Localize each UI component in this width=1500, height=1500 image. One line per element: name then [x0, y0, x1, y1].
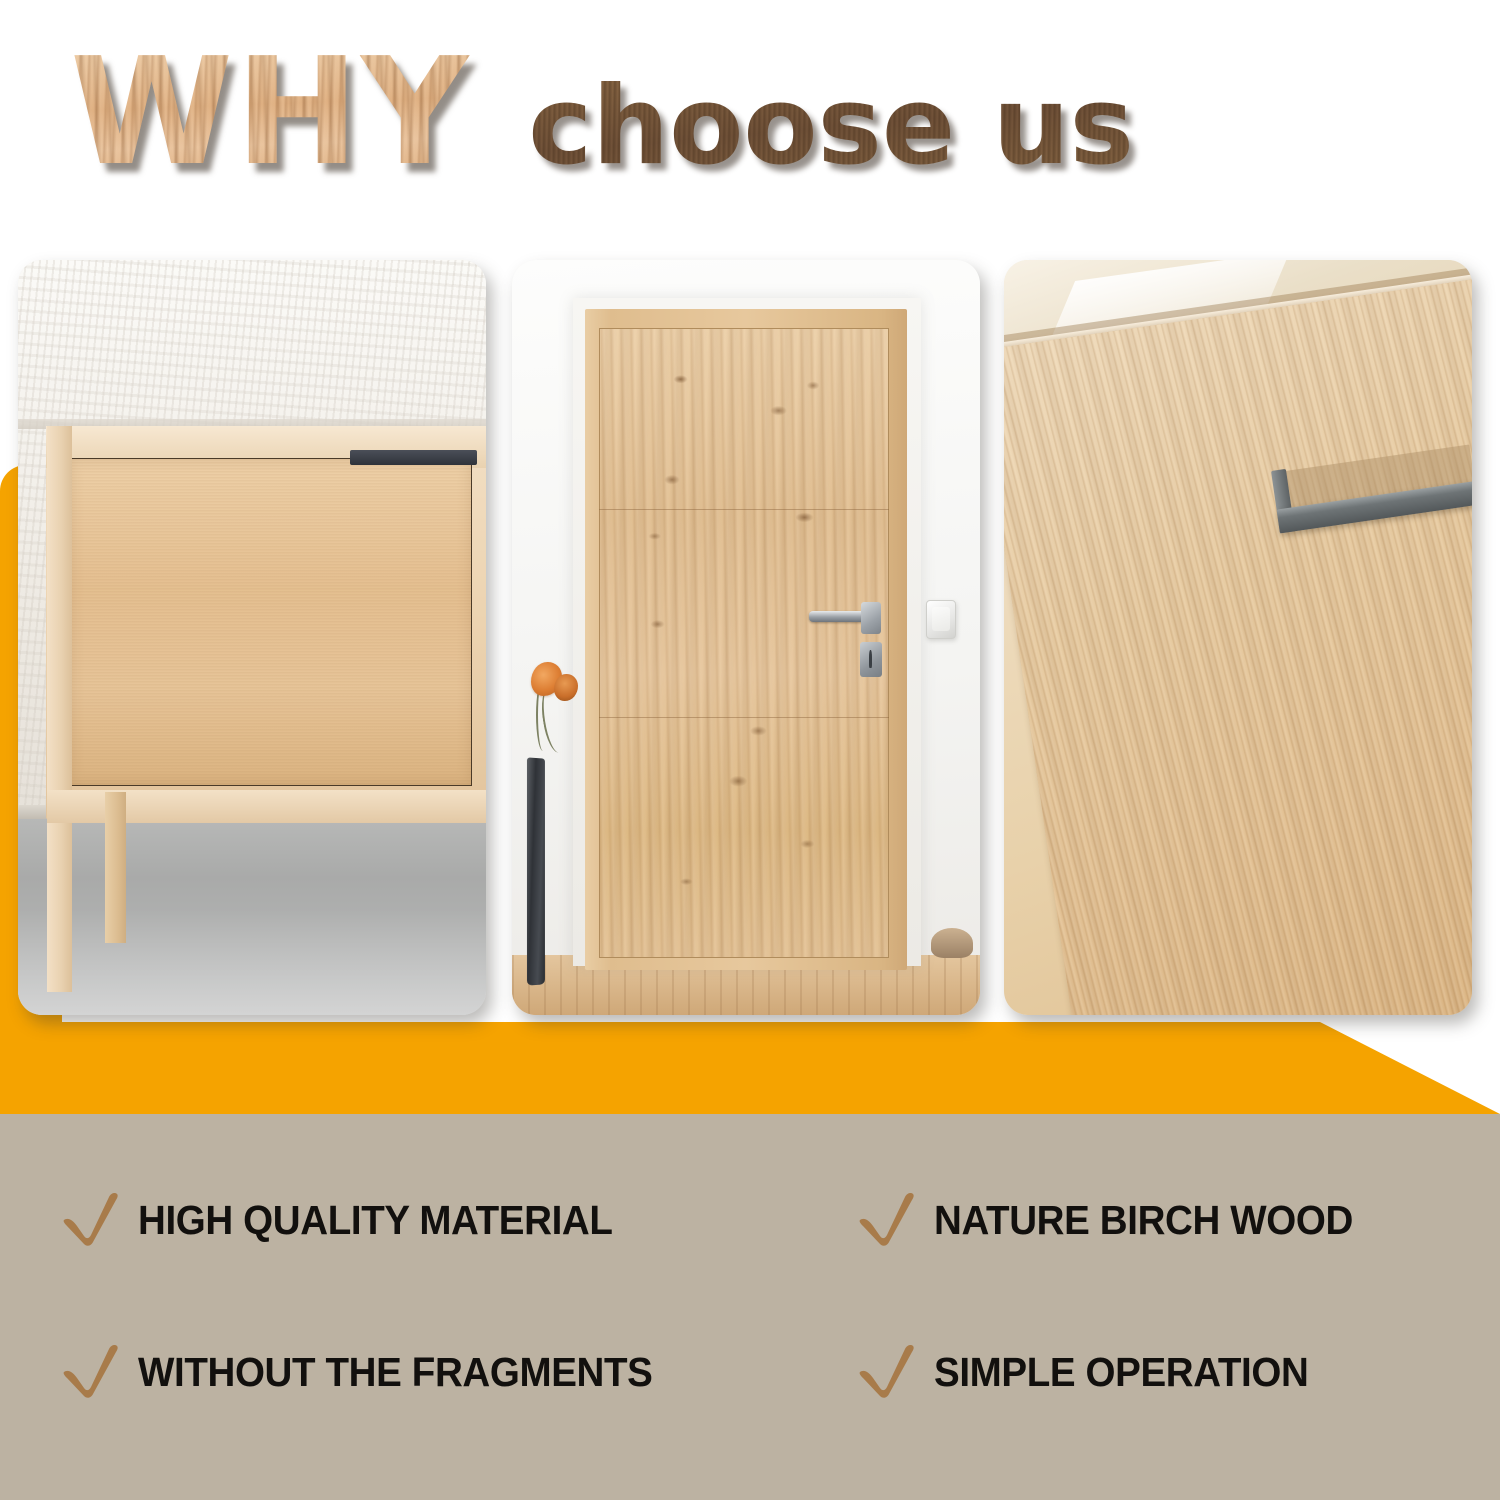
photo-card-door[interactable] [512, 260, 980, 1015]
drawer-front-panel [1004, 272, 1472, 1015]
feature-item: WITHOUT THE FRAGMENTS [62, 1342, 685, 1402]
check-icon [858, 1190, 916, 1250]
door-leaf [599, 328, 889, 958]
feature-label: WITHOUT THE FRAGMENTS [138, 1349, 652, 1396]
keyhole-escutcheon [860, 642, 882, 677]
door-plank-seam [599, 509, 889, 510]
check-icon [62, 1342, 120, 1402]
check-icon [858, 1342, 916, 1402]
infographic-page: WHY choose us [0, 0, 1500, 1500]
feature-label: HIGH QUALITY MATERIAL [138, 1197, 613, 1244]
check-icon [62, 1190, 120, 1250]
feature-label: SIMPLE OPERATION [934, 1349, 1308, 1396]
photo-card-row [0, 0, 1500, 1060]
cabinet-leg-middle [105, 792, 127, 943]
floor-reflection [18, 909, 486, 1015]
photo-card-drawer[interactable] [1004, 260, 1472, 1015]
floor-vase [527, 758, 545, 986]
feature-item: SIMPLE OPERATION [858, 1342, 1332, 1402]
door-stop [931, 928, 973, 958]
oak-door-photo [512, 260, 980, 1015]
feature-label: NATURE BIRCH WOOD [934, 1197, 1353, 1244]
drawer-closeup-photo [1004, 260, 1472, 1015]
handle-rosette [861, 602, 882, 634]
feature-item: NATURE BIRCH WOOD [858, 1190, 1380, 1250]
feature-item: HIGH QUALITY MATERIAL [62, 1190, 643, 1250]
light-switch [926, 600, 956, 639]
cabinet-leg-left [47, 426, 72, 992]
door-plank-seam [599, 717, 889, 718]
photo-card-sideboard[interactable] [18, 260, 486, 1015]
sideboard-cabinet-photo [18, 260, 486, 1015]
cabinet-handle [350, 450, 476, 464]
cabinet-door-panel [69, 458, 471, 786]
features-panel: HIGH QUALITY MATERIAL NATURE BIRCH WOOD … [0, 1114, 1500, 1500]
